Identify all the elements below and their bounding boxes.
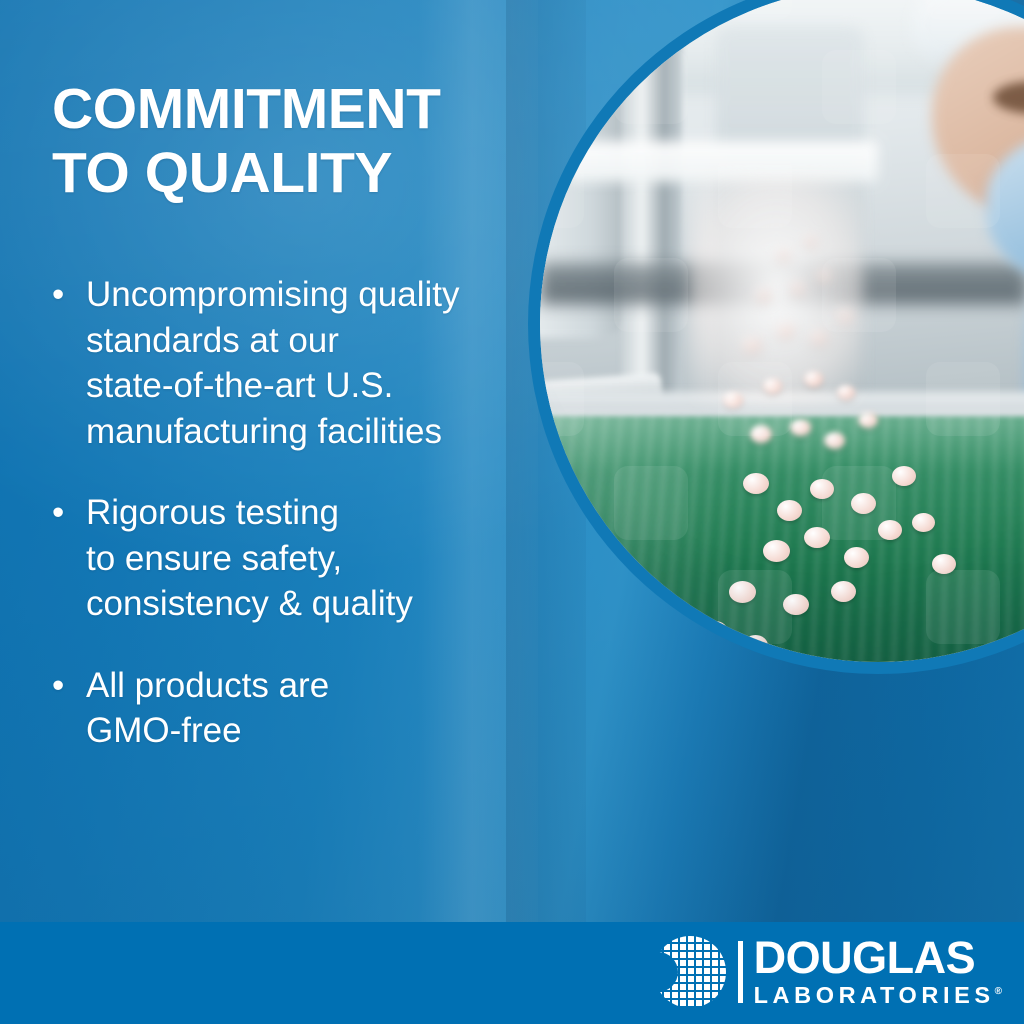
photo-edge-shade <box>540 0 1024 662</box>
bullet-line: GMO-free <box>86 708 518 754</box>
bullet-line: to ensure safety, <box>86 536 518 582</box>
page-title: COMMITMENT TO QUALITY <box>52 78 572 206</box>
brand-logo: DOUGLAS LABORATORIES® <box>654 934 1002 1010</box>
headline-line-1: COMMITMENT <box>52 78 572 142</box>
list-item: • Rigorous testing to ensure safety, con… <box>48 490 518 627</box>
commitment-to-quality-graphic: COMMITMENT TO QUALITY • Uncompromising q… <box>0 0 1024 1024</box>
bullet-marker-icon: • <box>48 272 86 454</box>
bullet-line: manufacturing facilities <box>86 409 518 455</box>
logo-wordmark: DOUGLAS LABORATORIES® <box>754 936 1002 1008</box>
bullet-line: All products are <box>86 663 518 709</box>
bullet-marker-icon: • <box>48 490 86 627</box>
bullet-line: Rigorous testing <box>86 490 518 536</box>
manufacturing-photo <box>540 0 1024 662</box>
bullet-line: state-of-the-art U.S. <box>86 363 518 409</box>
bullet-line: standards at our <box>86 318 518 364</box>
headline-line-2: TO QUALITY <box>52 142 572 206</box>
logo-secondary-label: LABORATORIES <box>754 982 995 1008</box>
grid-circle-icon <box>654 936 726 1008</box>
logo-divider <box>738 941 743 1003</box>
bullet-text: All products are GMO-free <box>86 663 518 754</box>
logo-secondary-text: LABORATORIES® <box>754 983 1002 1008</box>
list-item: • Uncompromising quality standards at ou… <box>48 272 518 454</box>
list-item: • All products are GMO-free <box>48 663 518 754</box>
bullet-line: Uncompromising quality <box>86 272 518 318</box>
logo-notch <box>638 952 678 992</box>
bullet-marker-icon: • <box>48 663 86 754</box>
registered-trademark-icon: ® <box>995 986 1002 997</box>
bullet-text: Rigorous testing to ensure safety, consi… <box>86 490 518 627</box>
bullet-text: Uncompromising quality standards at our … <box>86 272 518 454</box>
quality-bullet-list: • Uncompromising quality standards at ou… <box>48 272 518 754</box>
photo-circle <box>540 0 1024 662</box>
logo-primary-text: DOUGLAS <box>754 936 1002 980</box>
footer-bar: DOUGLAS LABORATORIES® <box>0 922 1024 1024</box>
bullet-line: consistency & quality <box>86 581 518 627</box>
